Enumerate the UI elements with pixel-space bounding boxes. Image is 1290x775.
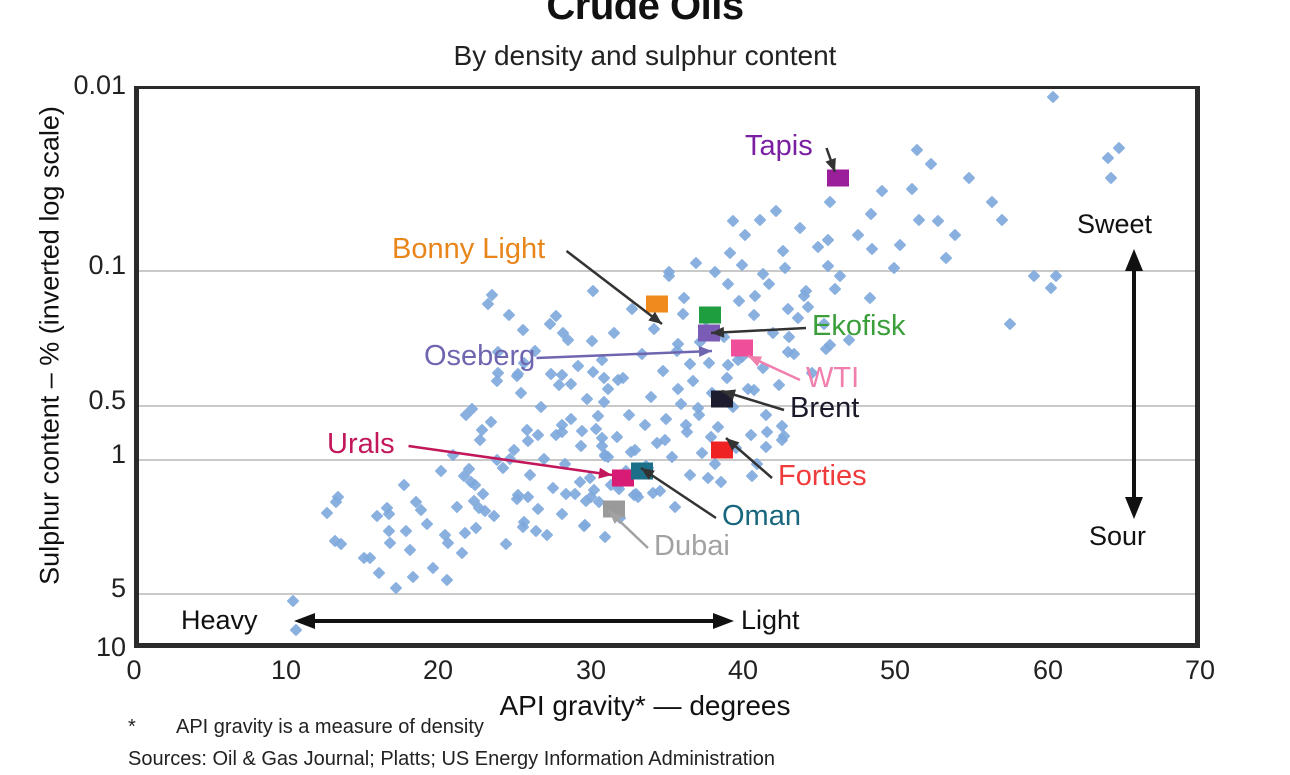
scatter-point xyxy=(864,207,877,220)
scatter-point xyxy=(535,401,548,414)
scatter-point xyxy=(749,289,762,302)
scatter-point xyxy=(748,308,761,321)
scatter-point xyxy=(599,531,612,544)
scatter-point xyxy=(398,479,411,492)
scatter-point xyxy=(574,439,587,452)
marker-forties[interactable] xyxy=(711,442,733,459)
scatter-point xyxy=(894,239,907,252)
scatter-point xyxy=(812,241,825,254)
y-tick-4: 5 xyxy=(6,573,126,604)
scatter-point xyxy=(321,506,334,519)
marker-brent[interactable] xyxy=(711,390,733,407)
scatter-point xyxy=(553,379,566,392)
chart-title: Crude Oils xyxy=(0,0,1290,29)
scatter-point xyxy=(714,475,727,488)
scatter-point xyxy=(931,215,944,228)
scatter-point xyxy=(776,419,789,432)
scatter-point xyxy=(791,312,804,325)
scatter-point xyxy=(760,409,773,422)
scatter-point xyxy=(626,303,639,316)
scatter-point xyxy=(720,372,733,385)
scatter-point xyxy=(635,348,648,361)
y-axis-title: Sulphur content – % (inverted log scale) xyxy=(35,66,66,626)
x-tick-4: 40 xyxy=(698,655,788,686)
scatter-point xyxy=(644,390,657,403)
scatter-point xyxy=(290,623,303,636)
scatter-point xyxy=(532,503,545,516)
x-tick-6: 60 xyxy=(1003,655,1093,686)
marker-tapis[interactable] xyxy=(827,170,849,187)
label-oseberg: Oseberg xyxy=(424,340,535,373)
scatter-point xyxy=(677,308,690,321)
scatter-point xyxy=(532,429,545,442)
scatter-point xyxy=(656,365,669,378)
label-forties: Forties xyxy=(778,460,867,493)
scatter-point xyxy=(684,357,697,370)
scatter-point xyxy=(420,518,433,531)
scatter-point xyxy=(611,431,624,444)
scatter-point xyxy=(522,491,535,504)
scatter-point xyxy=(721,278,734,291)
scatter-point xyxy=(865,243,878,256)
scatter-point xyxy=(451,500,464,513)
scatter-point xyxy=(759,441,772,454)
marker-wti[interactable] xyxy=(731,339,753,356)
scatter-point xyxy=(963,172,976,185)
scatter-point xyxy=(778,261,791,274)
scatter-point xyxy=(687,374,700,387)
scatter-point xyxy=(404,544,417,557)
scatter-point xyxy=(829,282,842,295)
x-tick-0: 0 xyxy=(89,655,179,686)
scatter-point xyxy=(696,447,709,460)
label-brent: Brent xyxy=(790,392,859,425)
label-tapis: Tapis xyxy=(745,130,813,163)
scatter-point xyxy=(905,183,918,196)
scatter-point xyxy=(672,382,685,395)
label-ekofisk: Ekofisk xyxy=(812,310,905,343)
sweet-label: Sweet xyxy=(1077,209,1152,240)
y-tick-3: 1 xyxy=(6,439,126,470)
scatter-point xyxy=(757,362,770,375)
scatter-point xyxy=(568,488,581,501)
scatter-point xyxy=(372,566,385,579)
label-dubai: Dubai xyxy=(654,530,730,563)
scatter-point xyxy=(985,195,998,208)
scatter-point xyxy=(824,195,837,208)
gridline-5 xyxy=(139,593,1195,595)
scatter-point xyxy=(761,426,774,439)
scatter-point xyxy=(912,214,925,227)
marker-oseberg[interactable] xyxy=(698,324,720,341)
scatter-point xyxy=(586,285,599,298)
scatter-point xyxy=(484,416,497,429)
scatter-point xyxy=(733,294,746,307)
scatter-point xyxy=(474,434,487,447)
footnote-star: * xyxy=(128,716,136,739)
scatter-point xyxy=(669,500,682,513)
heavy-label: Heavy xyxy=(181,605,258,636)
scatter-point xyxy=(701,472,714,485)
scatter-point xyxy=(763,278,776,291)
light-label: Light xyxy=(741,605,800,636)
chart-subtitle: By density and sulphur content xyxy=(0,40,1290,72)
scatter-point xyxy=(503,308,516,321)
scatter-point xyxy=(598,371,611,384)
scatter-point xyxy=(996,214,1009,227)
scatter-point xyxy=(888,261,901,274)
label-urals: Urals xyxy=(327,428,395,461)
scatter-point xyxy=(370,510,383,523)
scatter-point xyxy=(711,421,724,434)
x-tick-3: 30 xyxy=(546,655,636,686)
scatter-point xyxy=(1004,318,1017,331)
scatter-point xyxy=(580,392,593,405)
scatter-point xyxy=(949,228,962,241)
scatter-point xyxy=(576,425,589,438)
scatter-point xyxy=(911,143,924,156)
scatter-point xyxy=(1113,141,1126,154)
scatter-point xyxy=(564,377,577,390)
scatter-point xyxy=(547,482,560,495)
scatter-point xyxy=(538,453,551,466)
scatter-point xyxy=(702,357,715,370)
scatter-point xyxy=(876,185,889,198)
scatter-point xyxy=(766,326,779,339)
scatter-point xyxy=(684,469,697,482)
scatter-point xyxy=(678,291,691,304)
label-wti: WTI xyxy=(806,362,859,395)
scatter-point xyxy=(638,418,651,431)
scatter-point xyxy=(592,410,605,423)
scatter-point xyxy=(1101,151,1114,164)
scatter-point xyxy=(608,326,621,339)
plot-area: Heavy Light Sweet Sour xyxy=(134,86,1200,648)
scatter-point xyxy=(777,245,790,258)
scatter-point xyxy=(586,335,599,348)
scatter-point xyxy=(769,205,782,218)
scatter-point xyxy=(660,413,673,426)
scatter-point xyxy=(556,507,569,520)
marker-oman[interactable] xyxy=(631,463,653,480)
scatter-point xyxy=(517,324,530,337)
scatter-point xyxy=(822,234,835,247)
scatter-point xyxy=(515,387,528,400)
scatter-point xyxy=(864,291,877,304)
marker-dubai[interactable] xyxy=(603,501,625,518)
gridline-0.5 xyxy=(139,405,1195,407)
scatter-point xyxy=(455,547,468,560)
label-bonny-light: Bonny Light xyxy=(392,233,545,266)
scatter-point xyxy=(399,525,412,538)
scatter-point xyxy=(384,537,397,550)
scatter-point xyxy=(727,214,740,227)
footnote-sources: Sources: Oil & Gas Journal; Platts; US E… xyxy=(128,748,775,771)
y-tick-0: 0.01 xyxy=(6,70,126,101)
scatter-point xyxy=(925,157,938,170)
scatter-point xyxy=(1046,91,1059,104)
scatter-point xyxy=(286,594,299,607)
sweet-sour-arrow xyxy=(139,89,1200,648)
scatter-point xyxy=(851,228,864,241)
scatter-point xyxy=(781,303,794,316)
y-tick-1: 0.1 xyxy=(6,250,126,281)
scatter-point xyxy=(745,428,758,441)
scatter-point xyxy=(427,562,440,575)
scatter-point xyxy=(666,451,679,464)
scatter-point xyxy=(754,214,767,227)
scatter-point xyxy=(623,409,636,422)
scatter-point xyxy=(382,525,395,538)
scatter-point xyxy=(1104,172,1117,185)
label-oman: Oman xyxy=(722,500,801,533)
scatter-point xyxy=(746,470,759,483)
scatter-point xyxy=(500,538,513,551)
x-tick-7: 70 xyxy=(1155,655,1245,686)
scatter-point xyxy=(772,379,785,392)
scatter-point xyxy=(602,383,615,396)
scatter-point xyxy=(708,266,721,279)
scatter-point xyxy=(675,398,688,411)
scatter-point xyxy=(596,354,609,367)
scatter-point xyxy=(783,331,796,344)
marker-bonny-light[interactable] xyxy=(646,295,668,312)
scatter-point xyxy=(491,375,504,388)
marker-ekofisk[interactable] xyxy=(699,306,721,323)
scatter-point xyxy=(541,529,554,542)
scatter-point xyxy=(571,359,584,372)
x-tick-5: 50 xyxy=(850,655,940,686)
x-tick-1: 10 xyxy=(241,655,331,686)
scatter-point xyxy=(690,257,703,270)
x-tick-2: 20 xyxy=(393,655,483,686)
scatter-point xyxy=(1045,281,1058,294)
scatter-point xyxy=(441,574,454,587)
sour-label: Sour xyxy=(1089,521,1146,552)
footnote-note: API gravity is a measure of density xyxy=(176,716,484,739)
scatter-point xyxy=(723,247,736,260)
scatter-point xyxy=(647,322,660,335)
scatter-point xyxy=(524,469,537,482)
heavy-light-arrow xyxy=(139,89,1200,648)
y-tick-2: 0.5 xyxy=(6,385,126,416)
scatter-point xyxy=(434,465,447,478)
scatter-point xyxy=(794,221,807,234)
scatter-point xyxy=(407,571,420,584)
scatter-point xyxy=(739,228,752,241)
scatter-point xyxy=(940,252,953,265)
